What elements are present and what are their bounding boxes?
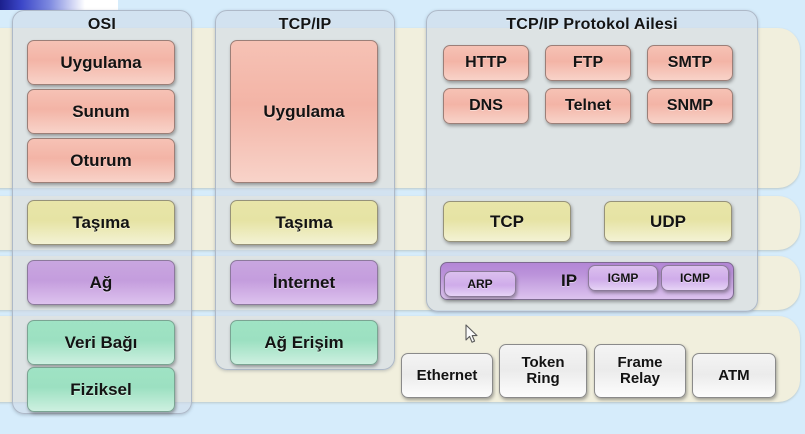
panel-osi-title: OSI xyxy=(13,16,191,34)
protocol-telnet[interactable]: Telnet xyxy=(545,88,631,124)
osi-layer-veri-bagi[interactable]: Veri Bağı xyxy=(27,320,175,365)
protocol-atm[interactable]: ATM xyxy=(692,353,776,398)
osi-layer-fiziksel[interactable]: Fiziksel xyxy=(27,367,175,412)
tcpip-layer-tasima[interactable]: Taşıma xyxy=(230,200,378,245)
protocol-frame-relay[interactable]: Frame Relay xyxy=(594,344,686,398)
protocol-http[interactable]: HTTP xyxy=(443,45,529,81)
protocol-snmp[interactable]: SNMP xyxy=(647,88,733,124)
osi-layer-ag[interactable]: Ağ xyxy=(27,260,175,305)
tcpip-layer-internet[interactable]: İnternet xyxy=(230,260,378,305)
protocol-ethernet[interactable]: Ethernet xyxy=(401,353,493,398)
top-gradient-strip xyxy=(0,0,118,10)
mouse-pointer-icon xyxy=(465,324,479,344)
protocol-tcp[interactable]: TCP xyxy=(443,201,571,242)
osi-layer-tasima[interactable]: Taşıma xyxy=(27,200,175,245)
protocol-icmp[interactable]: ICMP xyxy=(661,265,729,291)
protocol-smtp[interactable]: SMTP xyxy=(647,45,733,81)
protocol-udp[interactable]: UDP xyxy=(604,201,732,242)
protocol-ftp[interactable]: FTP xyxy=(545,45,631,81)
protocol-igmp[interactable]: IGMP xyxy=(588,265,658,291)
panel-tcpip-title: TCP/IP xyxy=(216,16,394,34)
protocol-token-ring[interactable]: Token Ring xyxy=(499,344,587,398)
tcpip-layer-uygulama[interactable]: Uygulama xyxy=(230,40,378,183)
osi-layer-oturum[interactable]: Oturum xyxy=(27,138,175,183)
panel-protocol-family-title: TCP/IP Protokol Ailesi xyxy=(427,16,757,34)
protocol-arp[interactable]: ARP xyxy=(444,271,516,297)
osi-layer-uygulama[interactable]: Uygulama xyxy=(27,40,175,85)
protocol-dns[interactable]: DNS xyxy=(443,88,529,124)
osi-layer-sunum[interactable]: Sunum xyxy=(27,89,175,134)
protocol-ip-label: IP xyxy=(561,272,577,290)
tcpip-layer-ag-erisim[interactable]: Ağ Erişim xyxy=(230,320,378,365)
diagram-canvas: OSI Uygulama Sunum Oturum Taşıma Ağ Veri… xyxy=(0,0,805,434)
